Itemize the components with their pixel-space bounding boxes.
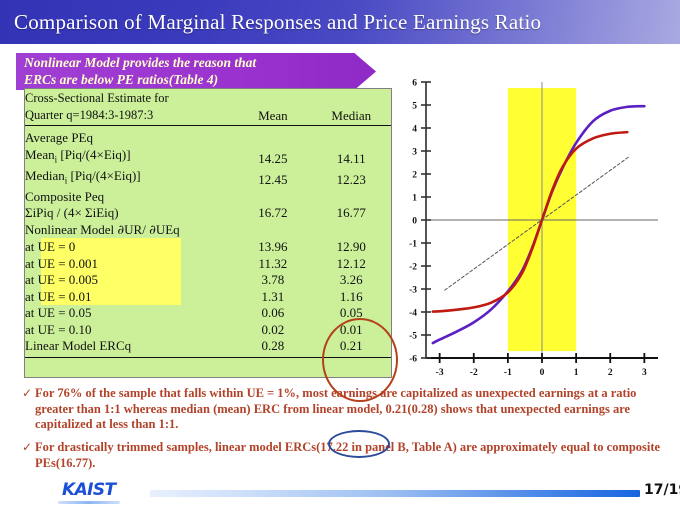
chart-x-tick-label: -3 — [436, 368, 444, 378]
table-row: Composite Peq — [25, 189, 391, 206]
chart-y-tick-label: 1 — [412, 194, 417, 204]
bullet-text-1: For 76% of the sample that falls within … — [22, 386, 664, 433]
row-label: at UE = 0.01 — [25, 289, 234, 306]
results-table-panel: Cross-Sectional Estimate forQuarter q=19… — [24, 88, 392, 378]
row-mean-value: 3.78 — [234, 272, 311, 289]
table-caption-line-2: Quarter q=1984:3-1987:3 — [25, 106, 234, 123]
row-label: at UE = 0.05 — [25, 305, 234, 322]
row-median-value — [312, 189, 391, 206]
column-header-mean: Mean — [234, 106, 311, 123]
table-row: Linear Model ERCq0.280.21 — [25, 338, 391, 355]
table-row: ΣiPiq / (4× ΣiEiq)16.7216.77 — [25, 205, 391, 222]
row-mean-value: 1.31 — [234, 289, 311, 306]
chart-x-tick-label: 0 — [540, 368, 545, 378]
row-median-value: 0.05 — [312, 305, 391, 322]
table-header-row-1: Cross-Sectional Estimate for — [25, 89, 391, 106]
column-header-median: Median — [312, 106, 391, 123]
row-label: at UE = 0 — [25, 239, 234, 256]
footer-gradient-bar — [150, 490, 640, 497]
callout-text: Nonlinear Model provides the reason that… — [16, 53, 376, 88]
table-row: at UE = 0.100.020.01 — [25, 322, 391, 339]
chart-y-tick-label: 6 — [412, 79, 417, 89]
slide-title-bar: Comparison of Marginal Responses and Pri… — [0, 0, 680, 44]
row-mean-value: 12.45 — [234, 168, 311, 189]
bullet-item-1: ✓ For 76% of the sample that falls withi… — [22, 386, 664, 433]
row-median-value: 14.11 — [312, 147, 391, 168]
row-mean-value: 0.02 — [234, 322, 311, 339]
chart-y-tick-label: -6 — [409, 355, 417, 365]
table-row: at UE = 0.050.060.05 — [25, 305, 391, 322]
row-label: Meani [Piq/(4×Eiq)] — [25, 147, 234, 168]
chart-y-tick-label: -2 — [409, 263, 417, 273]
row-median-value — [312, 130, 391, 147]
bullet-item-2: ✓ For drastically trimmed samples, linea… — [22, 440, 664, 471]
chart-y-tick-label: -4 — [409, 309, 417, 319]
chart-y-tick-label: -5 — [409, 332, 417, 342]
row-label: at UE = 0.001 — [25, 256, 234, 273]
row-mean-value: 11.32 — [234, 256, 311, 273]
table-caption-line-1: Cross-Sectional Estimate for — [25, 89, 234, 106]
row-median-value: 16.77 — [312, 205, 391, 222]
table-header-row-2: Quarter q=1984:3-1987:3MeanMedian — [25, 106, 391, 123]
row-label: ΣiPiq / (4× ΣiEiq) — [25, 205, 234, 222]
chart-x-tick-label: -2 — [470, 368, 478, 378]
callout-banner: Nonlinear Model provides the reason that… — [16, 53, 376, 90]
table-row: at UE = 0.00111.3212.12 — [25, 256, 391, 273]
results-table-body: Cross-Sectional Estimate forQuarter q=19… — [25, 89, 391, 357]
row-mean-value: 16.72 — [234, 205, 311, 222]
table-row: at UE = 013.9612.90 — [25, 239, 391, 256]
chart-x-tick-label: -1 — [504, 368, 512, 378]
chart-y-tick-label: 4 — [412, 125, 417, 135]
table-row: Nonlinear Model ∂UR/ ∂UEq — [25, 222, 391, 240]
kaist-logo-underline — [58, 501, 120, 504]
slide-footer: KAIST 17/19 — [0, 478, 680, 510]
page-number: 17/19 — [644, 482, 680, 498]
row-median-value: 3.26 — [312, 272, 391, 289]
row-label: Composite Peq — [25, 189, 234, 206]
chart-x-tick-label: 2 — [608, 368, 613, 378]
row-median-value — [312, 222, 391, 240]
row-mean-value: 13.96 — [234, 239, 311, 256]
check-icon: ✓ — [22, 386, 32, 400]
chart-y-tick-label: -3 — [409, 286, 417, 296]
table-bottom-rule — [25, 355, 391, 358]
chart-y-tick-label: 2 — [412, 171, 417, 181]
row-mean-value: 14.25 — [234, 147, 311, 168]
chart-svg: 6543210-1-2-3-4-5-6-3-2-10123 — [396, 72, 668, 382]
row-mean-value — [234, 189, 311, 206]
row-mean-value — [234, 222, 311, 240]
marginal-response-chart: 6543210-1-2-3-4-5-6-3-2-10123 — [396, 72, 668, 382]
callout-line-1: Nonlinear Model provides the reason that — [24, 55, 376, 72]
row-label: Nonlinear Model ∂UR/ ∂UEq — [25, 222, 234, 240]
row-label: Mediani [Piq/(4×Eiq)] — [25, 168, 234, 189]
row-label: at UE = 0.005 — [25, 272, 234, 289]
chart-x-tick-label: 3 — [642, 368, 647, 378]
table-row: Average PEq — [25, 130, 391, 147]
row-mean-value — [234, 130, 311, 147]
callout-line-2: ERCs are below PE ratios(Table 4) — [24, 72, 376, 89]
row-median-value: 1.16 — [312, 289, 391, 306]
row-mean-value: 0.06 — [234, 305, 311, 322]
page-title: Comparison of Marginal Responses and Pri… — [0, 10, 541, 35]
chart-y-tick-label: 3 — [412, 148, 417, 158]
chart-y-tick-label: 5 — [412, 102, 417, 112]
row-label: Linear Model ERCq — [25, 338, 234, 355]
chart-y-tick-label: -1 — [409, 240, 417, 250]
table-row: at UE = 0.011.311.16 — [25, 289, 391, 306]
row-median-value: 12.90 — [312, 239, 391, 256]
row-mean-value: 0.28 — [234, 338, 311, 355]
table-row: Meani [Piq/(4×Eiq)]14.2514.11 — [25, 147, 391, 168]
row-median-value: 12.12 — [312, 256, 391, 273]
row-median-value: 12.23 — [312, 168, 391, 189]
bullet-text-2: For drastically trimmed samples, linear … — [22, 440, 664, 471]
results-table: Cross-Sectional Estimate forQuarter q=19… — [25, 89, 391, 358]
row-median-value: 0.01 — [312, 322, 391, 339]
row-median-value: 0.21 — [312, 338, 391, 355]
chart-x-tick-label: 1 — [574, 368, 579, 378]
row-label: at UE = 0.10 — [25, 322, 234, 339]
check-icon: ✓ — [22, 440, 32, 454]
row-label: Average PEq — [25, 130, 234, 147]
kaist-logo: KAIST — [62, 480, 116, 500]
chart-y-tick-label: 0 — [412, 217, 417, 227]
table-row: at UE = 0.0053.783.26 — [25, 272, 391, 289]
table-row: Mediani [Piq/(4×Eiq)]12.4512.23 — [25, 168, 391, 189]
